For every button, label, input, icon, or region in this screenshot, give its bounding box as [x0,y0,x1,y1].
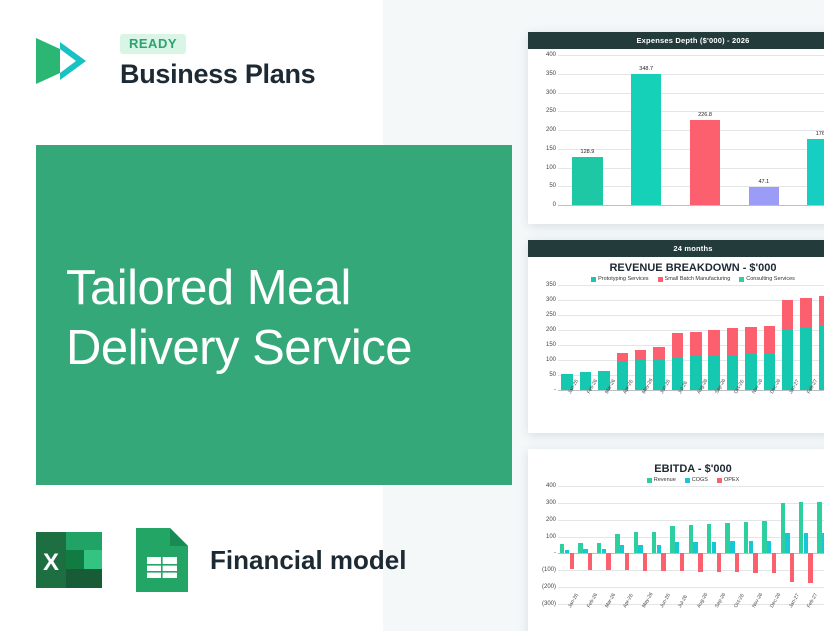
bar-segment [672,333,683,357]
bar-segment [749,541,753,553]
bar-segment [764,326,775,354]
legend-item: Consulting Services [739,276,795,282]
brand-logo-text: READY Business Plans [120,34,315,90]
y-axis-tick: 100 [546,534,556,540]
bar-segment [717,553,721,572]
bar-segment [638,545,642,553]
chart1-plot: 400350300250200150100500128.9348.7226.84… [534,55,824,205]
legend-swatch [591,277,596,282]
bar-segment [570,553,574,569]
legend-swatch [717,478,722,483]
bar-segment [689,525,693,554]
bar-segment [745,327,756,354]
brand-logo: READY Business Plans [30,28,330,98]
legend-label: COGS [692,477,708,483]
bar-segment [693,542,697,553]
bar-segment [727,328,738,354]
bar-segment [615,534,619,554]
bar-value-label: 348.7 [639,66,653,72]
play-triangle-logo-icon [30,30,92,92]
y-axis-labels: 400350300250200150100500 [534,55,558,205]
chart3-title: EBITDA - $'000 [528,463,824,475]
page-title-line1: Tailored Meal [66,258,506,318]
bar-segment [670,526,674,554]
bar-segment [790,553,794,582]
chart2-x-axis-labels: Jan-26Feb-26Mar-26Apr-26May-26Jun-26Jul-… [558,390,824,414]
chart2-plot: 35030025020015010050- [534,285,824,390]
bar-value-label: 226.8 [698,112,712,118]
bar [807,139,824,205]
legend-label: Revenue [654,477,676,483]
chart3-plot: 400300200100-(100)(200)(300) [534,486,824,604]
bar-segment [762,521,766,553]
bar-segment [817,502,821,553]
bar-segment [606,553,610,570]
y-axis-tick: (300) [542,601,556,607]
legend-label: OPEX [724,477,739,483]
bar-segment [781,503,785,554]
bar-series [558,285,824,390]
y-axis-tick: 0 [553,202,556,208]
bar-segment [675,542,679,553]
y-axis-tick: 400 [546,52,556,58]
bar-segment [680,553,684,571]
y-axis-tick: 250 [546,312,556,318]
chart3-legend: RevenueCOGSOPEX [528,477,824,483]
bar-value-label: 176.5 [816,131,824,137]
bar-segment [652,532,656,554]
bar-segment [800,298,811,327]
svg-text:X: X [43,549,59,576]
legend-swatch [685,478,690,483]
bar-segment [799,502,803,553]
microsoft-excel-icon: X [36,524,108,596]
bar-segment [708,330,719,356]
ready-badge: READY [120,34,186,54]
legend-item: Small Batch Manufacturing [658,276,731,282]
legend-item: Revenue [647,477,676,483]
y-axis-tick: - [554,387,556,393]
legend-swatch [658,277,663,282]
bar-segment [690,332,701,357]
bar [690,120,721,205]
bar-value-label: 47.1 [758,179,769,185]
bar-segment [819,296,824,326]
y-axis-tick: 400 [546,483,556,489]
bar-segment [772,553,776,573]
bar [572,157,603,205]
google-sheets-icon [130,524,194,596]
bar-segment [634,532,638,553]
y-axis-tick: 50 [549,183,556,189]
y-axis-tick: 200 [546,517,556,523]
card-ebitda: EBITDA - $'000 RevenueCOGSOPEX 400300200… [528,449,824,631]
financial-model-label: Financial model [210,545,407,576]
card-revenue-breakdown: 24 months REVENUE BREAKDOWN - $'000 Prot… [528,240,824,433]
y-axis-tick: 350 [546,71,556,77]
page-title-line2: Delivery Service [66,318,506,378]
bar-segment [643,553,647,570]
bar-segment [597,543,601,553]
y-axis-tick: 300 [546,297,556,303]
y-axis-tick: 100 [546,357,556,363]
bar-segment [753,553,757,572]
y-axis-labels: 35030025020015010050- [534,285,558,390]
bar-segment [578,543,582,553]
chart1-title: Expenses Depth ($'000) - 2026 [528,32,824,49]
bar-segment [560,544,564,553]
chart2-title: REVENUE BREAKDOWN - $'000 [528,262,824,274]
page-root: READY Business Plans Tailored Meal Deliv… [0,0,824,631]
legend-item: COGS [685,477,708,483]
bar-segment [712,542,716,554]
bar-segment [767,541,771,554]
y-axis-tick: - [554,550,556,556]
chart2-topbar: 24 months [528,240,824,257]
y-axis-tick: 300 [546,90,556,96]
y-axis-tick: (200) [542,584,556,590]
bar-series: 128.9348.7226.847.1176.5 [558,55,824,205]
y-axis-labels: 400300200100-(100)(200)(300) [534,486,558,604]
gridline [558,205,824,206]
bar-segment [782,300,793,329]
bar-segment [661,553,665,571]
y-axis-tick: 150 [546,342,556,348]
page-title: Tailored Meal Delivery Service [66,258,506,378]
bar-segment [635,350,646,361]
bar-segment [625,553,629,570]
bar-segment [707,524,711,554]
legend-item: Prototyping Services [591,276,648,282]
y-axis-tick: 50 [549,372,556,378]
y-axis-tick: 300 [546,500,556,506]
brand-name: Business Plans [120,59,315,90]
legend-item: OPEX [717,477,739,483]
bar-segment [730,541,734,553]
bar-segment [583,549,587,553]
y-axis-tick: 150 [546,146,556,152]
bar-segment [698,553,702,571]
y-axis-tick: 200 [546,127,556,133]
bar-segment [725,523,729,553]
bar-value-label: 128.9 [581,149,595,155]
card-expenses-depth: Expenses Depth ($'000) - 2026 4003503002… [528,32,824,224]
bar-series [558,486,824,604]
bar [631,74,662,205]
bar-segment [819,326,824,391]
bar [749,187,780,205]
bar-segment [800,327,811,390]
legend-swatch [739,277,744,282]
bar-segment [744,522,748,553]
legend-swatch [647,478,652,483]
chart3-x-axis-labels: Jan-26Feb-26Mar-26Apr-26May-26Jun-26Jul-… [558,604,824,628]
bar-segment [657,545,661,554]
legend-label: Small Batch Manufacturing [665,276,731,282]
y-axis-tick: 200 [546,327,556,333]
bar-segment [617,353,628,362]
bar-segment [804,533,808,554]
bar-segment [785,533,789,553]
y-axis-tick: 100 [546,165,556,171]
bar-segment [782,329,793,391]
bar-segment [602,549,606,553]
legend-label: Prototyping Services [598,276,648,282]
chart2-legend: Prototyping ServicesSmall Batch Manufact… [528,276,824,282]
legend-label: Consulting Services [746,276,795,282]
y-axis-tick: 350 [546,282,556,288]
bar-segment [565,550,569,554]
bar-segment [653,347,664,358]
bar-segment [620,545,624,553]
bar-segment [735,553,739,572]
y-axis-tick: 250 [546,108,556,114]
bar-segment [808,553,812,583]
y-axis-tick: (100) [542,567,556,573]
bar-segment [588,553,592,570]
